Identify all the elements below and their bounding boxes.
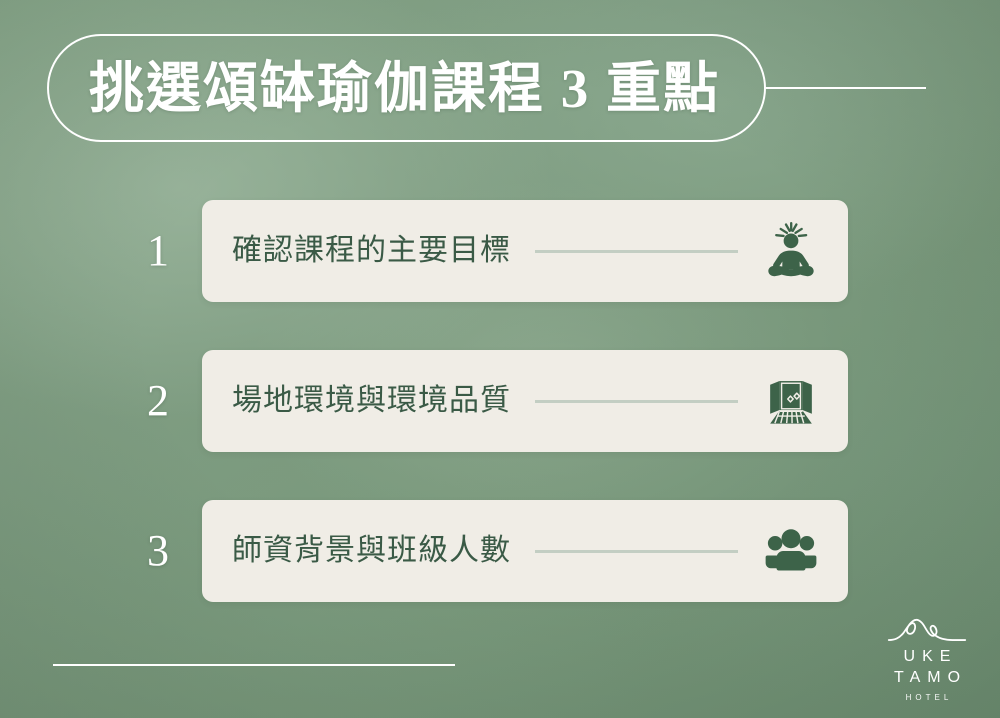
title-trailing-rule [766, 87, 926, 89]
item-connector-line [535, 400, 738, 403]
item-card: 確認課程的主要目標 [202, 200, 848, 302]
list-item: 2 場地環境與環境品質 [0, 350, 1000, 452]
logo-name-line2: TAMO [887, 667, 967, 688]
logo-subtitle: HOTEL [902, 693, 953, 702]
poster-canvas: 挑選頌缽瑜伽課程 3 重點 1 確認課程的主要目標 [0, 0, 1000, 718]
item-card: 場地環境與環境品質 [202, 350, 848, 452]
item-label: 確認課程的主要目標 [232, 236, 511, 266]
footer-rule [53, 664, 455, 666]
brand-logo: UKE TAMO HOTEL [868, 612, 986, 702]
item-list: 1 確認課程的主要目標 [0, 200, 1000, 602]
page-title: 挑選頌缽瑜伽課程 3 重點 [89, 61, 720, 116]
studio-room-icon [760, 370, 822, 432]
title-row: 挑選頌缽瑜伽課程 3 重點 [47, 34, 957, 142]
group-people-icon [760, 520, 822, 582]
item-label: 場地環境與環境品質 [232, 386, 511, 416]
title-pill: 挑選頌缽瑜伽課程 3 重點 [47, 34, 766, 142]
meditation-lotus-icon [760, 220, 822, 282]
item-number: 1 [130, 200, 186, 302]
item-connector-line [535, 550, 738, 553]
item-number: 3 [130, 500, 186, 602]
list-item: 3 師資背景與班級人數 [0, 500, 1000, 602]
item-connector-line [535, 250, 738, 253]
item-number: 2 [130, 350, 186, 452]
mountain-line-icon [886, 612, 968, 646]
item-label: 師資背景與班級人數 [232, 536, 511, 566]
logo-name-line1: UKE [897, 646, 958, 667]
item-card: 師資背景與班級人數 [202, 500, 848, 602]
list-item: 1 確認課程的主要目標 [0, 200, 1000, 302]
